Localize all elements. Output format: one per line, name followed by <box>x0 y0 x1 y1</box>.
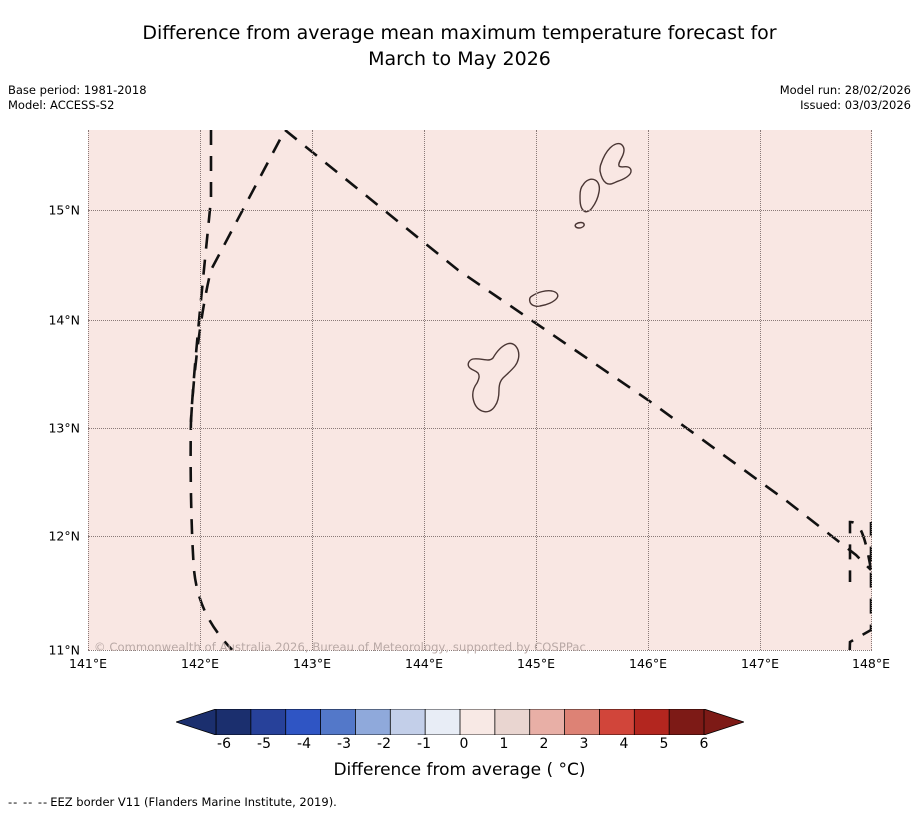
colorbar-cell-5 <box>390 709 425 735</box>
footer-dash-legend: -- -- -- <box>8 795 48 809</box>
xtick-label-144E: 144°E <box>405 656 443 671</box>
ytick-label-11N: 11°N <box>48 643 80 658</box>
chart-title-line-2: March to May 2026 <box>0 46 919 72</box>
issued-text: Issued: 03/03/2026 <box>780 98 911 113</box>
colorbar-extend-low-arrow <box>176 709 216 735</box>
xtick-label-146E: 146°E <box>629 656 667 671</box>
metadata-left: Base period: 1981-2018 Model: ACCESS-S2 <box>8 83 147 113</box>
xtick-label-145E: 145°E <box>517 656 555 671</box>
chart-title-line-1: Difference from average mean maximum tem… <box>0 20 919 46</box>
copyright-watermark: © Commonwealth of Australia 2026, Bureau… <box>94 640 586 654</box>
ytick-label-12N: 12°N <box>48 529 80 544</box>
footer-eez-note: -- -- --EEZ border V11 (Flanders Marine … <box>8 795 337 809</box>
xtick-label-141E: 141°E <box>69 656 107 671</box>
colorbar-extend-high-arrow <box>704 709 744 735</box>
colorbar-tick-5: 5 <box>660 736 669 752</box>
colorbar-cell-4 <box>355 709 390 735</box>
colorbar-tick--6: -6 <box>217 736 231 752</box>
colorbar-tick-0: 0 <box>460 736 469 752</box>
model-text: Model: ACCESS-S2 <box>8 98 147 113</box>
colorbar-cell-9 <box>530 709 565 735</box>
colorbar-tick--5: -5 <box>257 736 271 752</box>
colorbar-axis-label: Difference from average ( °C) <box>0 760 919 780</box>
xtick-label-148E: 148°E <box>852 656 890 671</box>
xtick-label-142E: 142°E <box>181 656 219 671</box>
colorbar-cell-1 <box>251 709 286 735</box>
colorbar-cell-12 <box>634 709 669 735</box>
xtick-label-147E: 147°E <box>741 656 779 671</box>
colorbar-svg <box>176 709 744 735</box>
metadata-right: Model run: 28/02/2026 Issued: 03/03/2026 <box>780 83 911 113</box>
colorbar <box>176 709 744 735</box>
footer-text: EEZ border V11 (Flanders Marine Institut… <box>50 795 337 809</box>
colorbar-cell-6 <box>425 709 460 735</box>
colorbar-tick--3: -3 <box>337 736 351 752</box>
model-run-text: Model run: 28/02/2026 <box>780 83 911 98</box>
ytick-label-13N: 13°N <box>48 421 80 436</box>
colorbar-cell-8 <box>495 709 530 735</box>
colorbar-cell-3 <box>321 709 356 735</box>
chart-title: Difference from average mean maximum tem… <box>0 20 919 72</box>
colorbar-tick-6: 6 <box>700 736 709 752</box>
colorbar-cell-11 <box>599 709 634 735</box>
colorbar-tick--2: -2 <box>377 736 391 752</box>
colorbar-cell-10 <box>565 709 600 735</box>
colorbar-cell-0 <box>216 709 251 735</box>
colorbar-tick-3: 3 <box>580 736 589 752</box>
ytick-label-15N: 15°N <box>48 203 80 218</box>
map-svg <box>88 130 872 650</box>
colorbar-cell-2 <box>286 709 321 735</box>
colorbar-tick-4: 4 <box>620 736 629 752</box>
colorbar-cell-7 <box>460 709 495 735</box>
colorbar-cell-13 <box>669 709 704 735</box>
xtick-label-143E: 143°E <box>293 656 331 671</box>
ytick-label-14N: 14°N <box>48 313 80 328</box>
coastline-aguijan <box>575 223 584 229</box>
base-period-text: Base period: 1981-2018 <box>8 83 147 98</box>
colorbar-tick--1: -1 <box>417 736 431 752</box>
colorbar-tick-1: 1 <box>500 736 509 752</box>
map-plot-area <box>88 130 872 650</box>
colorbar-tick-2: 2 <box>540 736 549 752</box>
colorbar-tick--4: -4 <box>297 736 311 752</box>
